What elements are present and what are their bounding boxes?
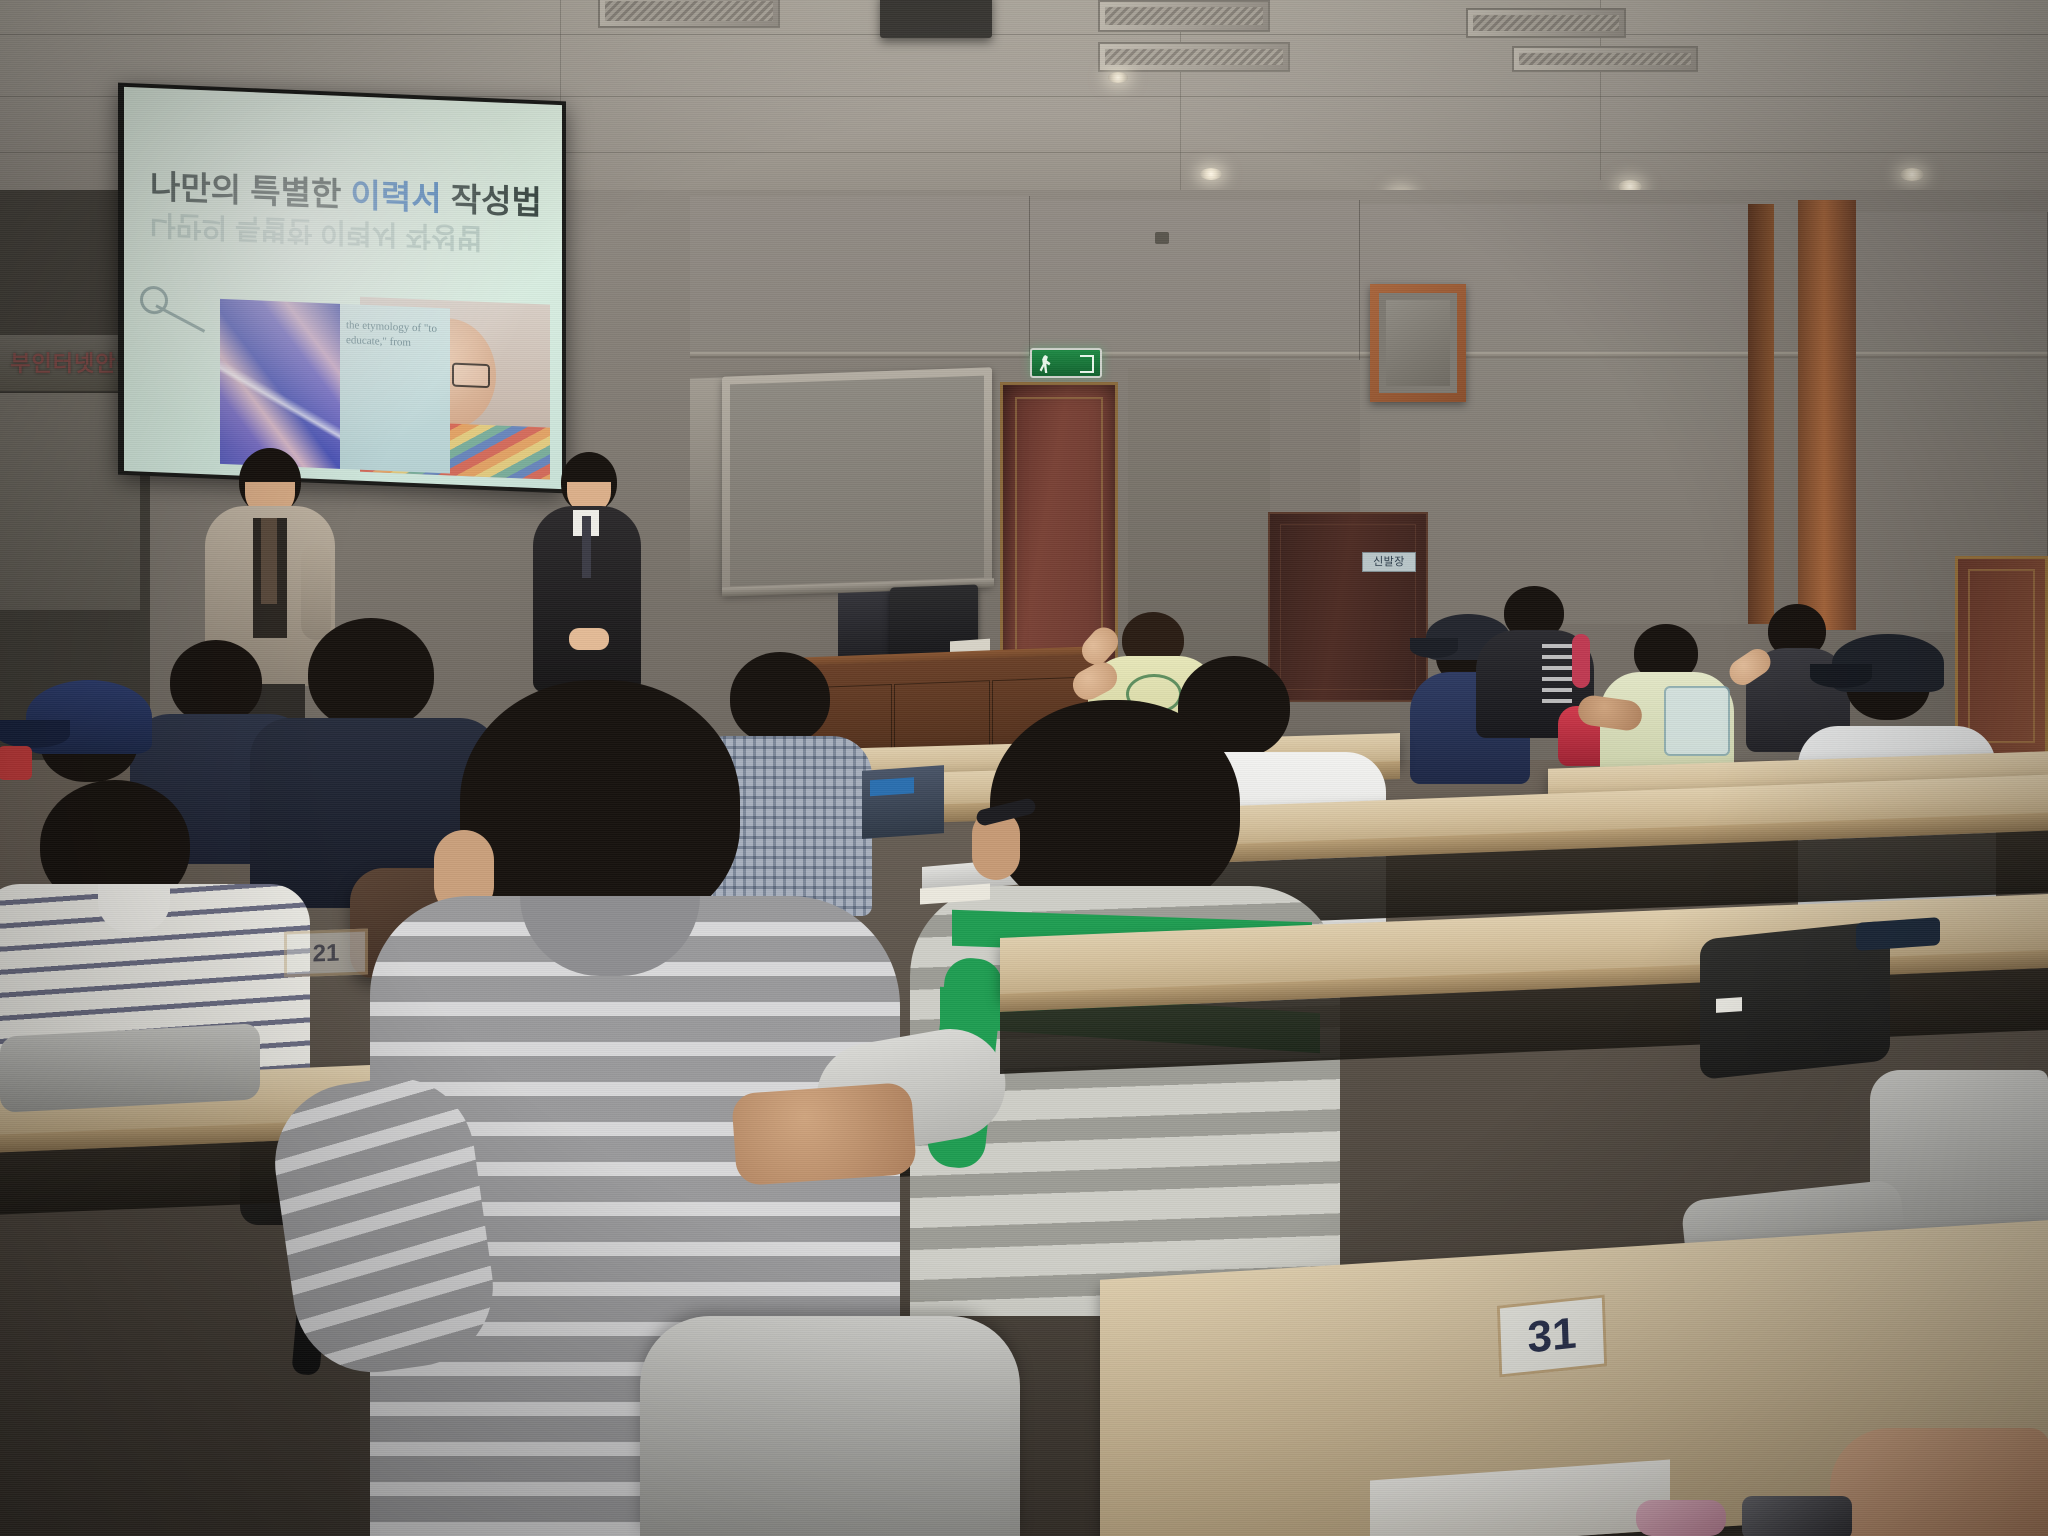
classroom-photo: 신발장 부인터넷안됨 나만의 특별한 이력서 작성법 나만의 특별한 이력서 작…: [0, 0, 2048, 1536]
whiteboard: [730, 376, 984, 587]
hand: [1830, 1428, 2048, 1536]
ceiling-seam: [0, 34, 2048, 35]
cap-icon: [1832, 634, 1944, 692]
wood-pillar: [1798, 200, 1856, 630]
ceiling-vent: [1466, 8, 1626, 38]
audience-member: [1476, 586, 1594, 726]
whiteboard-panel-left: [690, 377, 726, 590]
chair-back[interactable]: [640, 1316, 1020, 1536]
wall-picture-frame: [1370, 284, 1466, 402]
cap-icon: [26, 680, 152, 754]
exit-sign: [1030, 348, 1102, 378]
slide-title-part2: 작성법: [442, 180, 542, 221]
wood-pillar-secondary: [1748, 204, 1774, 624]
audience-member: [1600, 624, 1734, 774]
wall-panel: [1030, 200, 1360, 360]
wall-panel: [690, 196, 1030, 356]
ceiling-vent: [598, 0, 780, 28]
ceiling-downlight: [1900, 168, 1924, 181]
pointer-icon: [138, 283, 208, 346]
projection-screen: 나만의 특별한 이력서 작성법 나만의 특별한 이력서 작성법 the etym…: [124, 87, 562, 489]
door-plate-sign: 신발장: [1362, 552, 1416, 572]
ceiling-vent: [1512, 46, 1698, 72]
desk-placard-31: 31: [1497, 1294, 1607, 1377]
slide-body-text: the etymology of "to educate," from: [346, 318, 450, 352]
ceiling-downlight: [1108, 72, 1128, 83]
chair-back[interactable]: [0, 1023, 260, 1113]
audience-member: [1086, 624, 1094, 632]
ceiling-vent: [1098, 0, 1270, 32]
slide-title-accent: 이력서: [351, 176, 442, 217]
slide-text-block: the etymology of "to educate," from: [340, 304, 450, 474]
ceiling-vent: [1098, 42, 1290, 72]
ceiling-downlight: [1200, 168, 1222, 180]
audience-member: [1400, 648, 1460, 728]
mobile-phone[interactable]: [1742, 1496, 1852, 1536]
small-item: [1716, 997, 1742, 1013]
wall-camera-icon: [1155, 232, 1169, 244]
phone-strap: [1636, 1500, 1726, 1536]
desk-placard: 21: [284, 929, 368, 978]
ceiling-projector: [880, 0, 992, 38]
audience-member: [1096, 620, 1116, 640]
slide-abstract-image: [220, 299, 340, 469]
dark-item: [1856, 917, 1940, 951]
